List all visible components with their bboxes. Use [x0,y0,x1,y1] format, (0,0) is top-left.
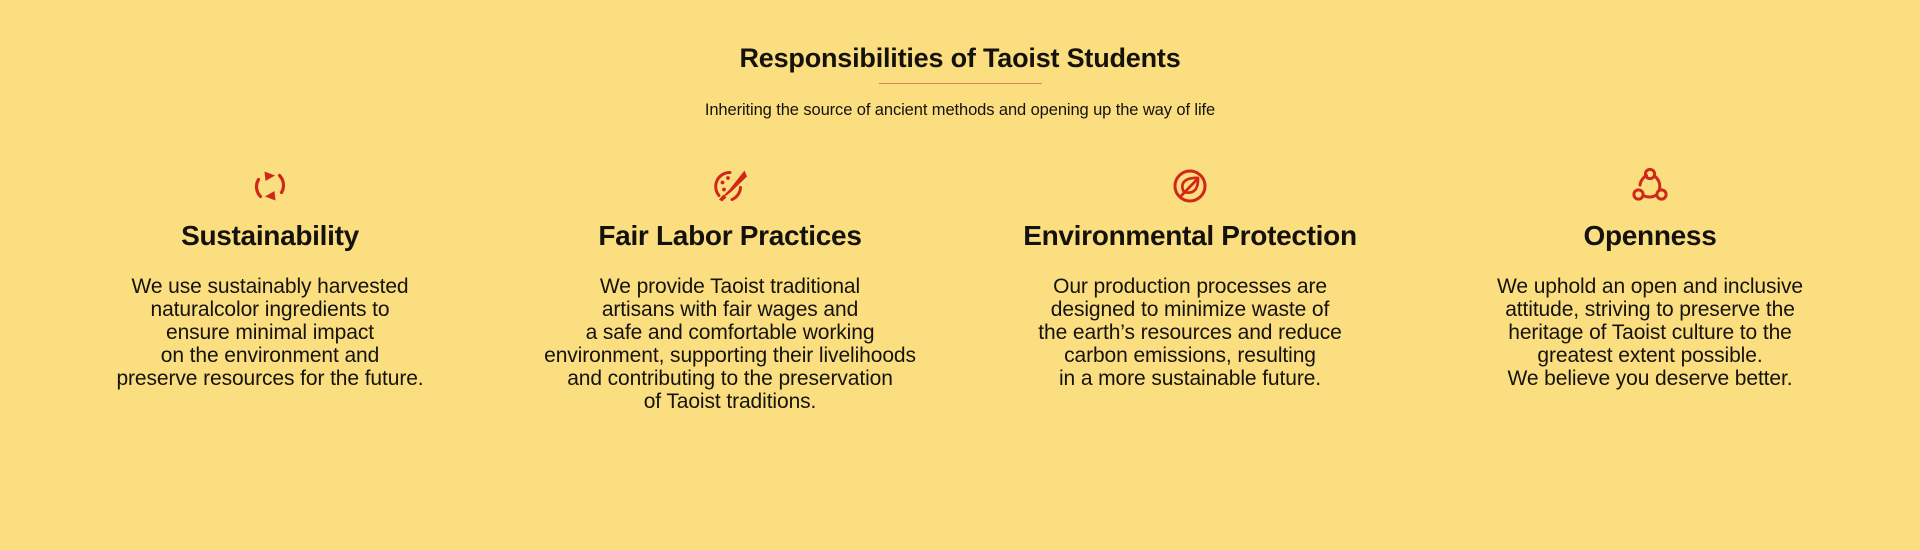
column-heading: Openness [1584,220,1717,252]
column-environmental-protection: Environmental Protection Our production … [960,160,1420,390]
column-openness: Openness We uphold an open and inclusive… [1420,160,1880,390]
share-network-icon [1627,160,1673,212]
title-divider [879,83,1042,84]
leaf-in-circle-icon [1167,160,1213,212]
column-body: Our production processes are designed to… [1038,275,1341,390]
page-title: Responsibilities of Taoist Students [0,44,1920,74]
column-sustainability: Sustainability We use sustainably harves… [40,160,500,390]
section-header: Responsibilities of Taoist Students Inhe… [0,0,1920,120]
column-heading: Fair Labor Practices [598,220,861,252]
recycle-arrows-icon [247,160,293,212]
column-body: We use sustainably harvested naturalcolo… [116,275,423,390]
column-body: We provide Taoist traditional artisans w… [544,275,916,414]
column-heading: Environmental Protection [1023,220,1357,252]
column-body: We uphold an open and inclusive attitude… [1497,275,1803,390]
column-heading: Sustainability [181,220,359,252]
value-columns: Sustainability We use sustainably harves… [0,160,1920,413]
page-subtitle: Inheriting the source of ancient methods… [0,101,1920,121]
responsibilities-section: Responsibilities of Taoist Students Inhe… [0,0,1920,550]
paint-palette-brush-icon [707,160,753,212]
column-fair-labor-practices: Fair Labor Practices We provide Taoist t… [500,160,960,413]
